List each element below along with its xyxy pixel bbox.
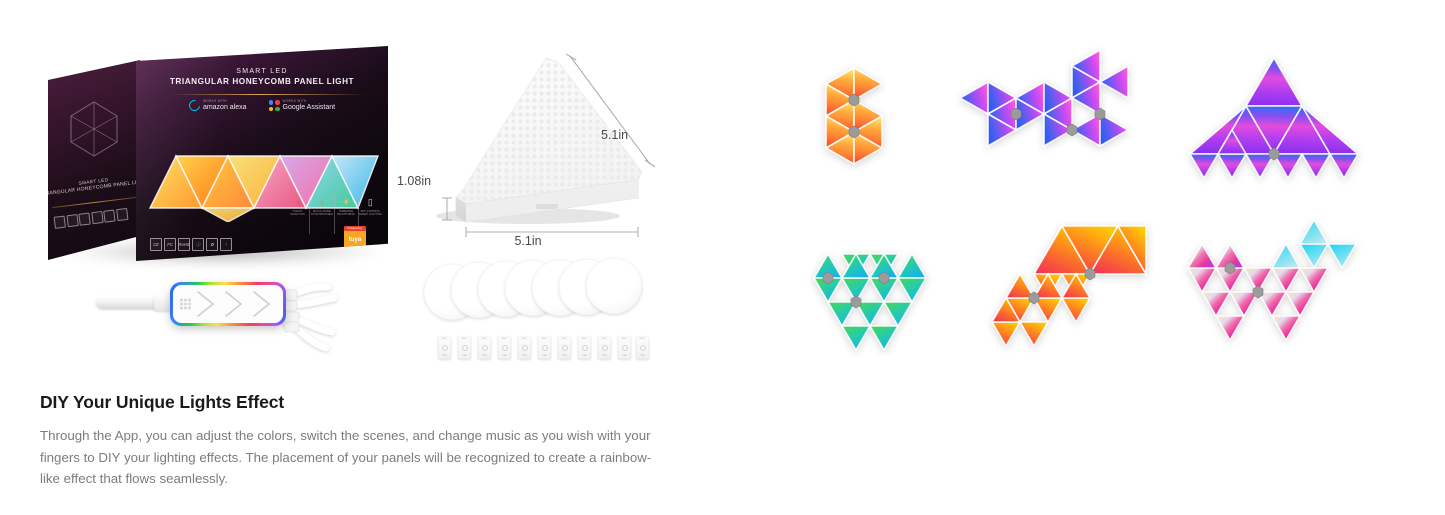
brightness-icon: ☀ [342,198,350,207]
arrangement-blue-purple-zigzag [950,50,1150,170]
arrangement-pastel-w [1178,234,1368,364]
box-title-line1: SMART LED [136,68,388,75]
box-title-block: SMART LED TRIANGULAR HONEYCOMB PANEL LIG… [136,68,388,86]
connector-tab: NEXTPRE [498,336,511,359]
arrangement-orange-arrow [972,218,1152,363]
right-column: DIY Design Let your imagination play fre… [722,0,1445,515]
music-sync-icon: ◔ [295,198,300,207]
right-media-area [722,0,1445,380]
left-caption-body: Through the App, you can adjust the colo… [40,425,670,490]
connector-tab: NEXTPRE [438,336,451,359]
box-side-text: SMART LED TRIANGULAR HONEYCOMB PANEL LIG… [48,171,140,201]
alexa-badge: WORKS WITH amazon alexa [189,100,247,112]
cert-fcc-icon: FC [164,238,176,251]
cert-info-icon: ⓘ [192,238,204,251]
box-certification-marks: CE FC RoHS ⓘ ♻ ↑ [150,238,232,251]
connector-tab: NEXTPRE [618,336,631,359]
product-box-image: SMART LED TRIANGULAR HONEYCOMB PANEL LIG… [48,42,388,277]
chevron-icon-1 [195,289,217,319]
box-feature-strip: ◔ TOUCH FUNCTION ♪ MUSIC MODE SYNCHRONIZ… [286,194,382,234]
google-assistant-badge: WORKS WITH Google Assistant [269,100,336,112]
box-title-line2: TRIANGULAR HONEYCOMB PANEL LIGHT [136,77,388,86]
controller-body[interactable] [170,282,286,326]
arrangement-orange-six [790,42,920,177]
panel-3d-view [398,48,656,248]
connector-tab: NEXTPRE [558,336,571,359]
assistant-badges: WORKS WITH amazon alexa WORKS WITH Googl… [136,100,388,112]
product-feature-page: SMART LED TRIANGULAR HONEYCOMB PANEL LIG… [0,0,1445,515]
speaker-grille-icon [180,299,191,310]
arrangement-green-star [780,244,960,374]
connector-tab: NEXTPRE [518,336,531,359]
alexa-icon [187,98,202,113]
feature-music-mode: ♪ MUSIC MODE SYNCHRONIZED [309,194,333,234]
left-media-area: SMART LED TRIANGULAR HONEYCOMB PANEL LIG… [0,0,722,380]
cert-up-icon: ↑ [220,238,232,251]
box-side-face: SMART LED TRIANGULAR HONEYCOMB PANEL LIG… [48,60,140,260]
cert-ce-icon: CE [150,238,162,251]
connector-tab: NEXTPRE [578,336,591,359]
arrangement-purple-triangle [1184,44,1364,194]
app-control-icon: ▯ [368,198,373,207]
dimension-side-label: 5.1in [601,128,628,142]
music-note-icon: ♪ [320,198,325,207]
cert-recycle-icon: ♻ [206,238,218,251]
dimension-thickness-label: 1.08in [397,174,431,188]
left-caption-title: DIY Your Unique Lights Effect [40,392,670,413]
accessories-image: NEXTPRE NEXTPRE NEXTPRE NEXTPRE NEXTPRE … [424,258,649,363]
cert-rohs-icon: RoHS [178,238,190,251]
left-column: SMART LED TRIANGULAR HONEYCOMB PANEL LIG… [0,0,722,515]
controller-face [173,285,283,323]
google-assistant-icon [269,100,280,111]
chevron-icon-2 [223,289,245,319]
connector-tab: NEXTPRE [458,336,471,359]
adhesive-disc [586,258,642,314]
controller-image [96,272,346,367]
connector-tab: NEXTPRE [598,336,611,359]
box-front-face: SMART LED TRIANGULAR HONEYCOMB PANEL LIG… [136,46,388,261]
dimension-base-label: 5.1in [514,234,541,248]
box-gold-rule [170,94,368,95]
chevron-icon-3 [251,289,273,319]
panel-dimension-diagram: 5.1in 1.08in 5.1in [398,48,656,248]
box-side-rule [52,197,135,208]
connector-tab: NEXTPRE [478,336,491,359]
hexagon-outline-icon [68,100,120,158]
box-side-certifications [54,207,135,229]
left-caption: DIY Your Unique Lights Effect Through th… [40,392,670,490]
feature-touch-function: ◔ TOUCH FUNCTION [286,194,309,234]
connector-tab: NEXTPRE [538,336,551,359]
connector-tab: NEXTPRE [636,336,649,359]
